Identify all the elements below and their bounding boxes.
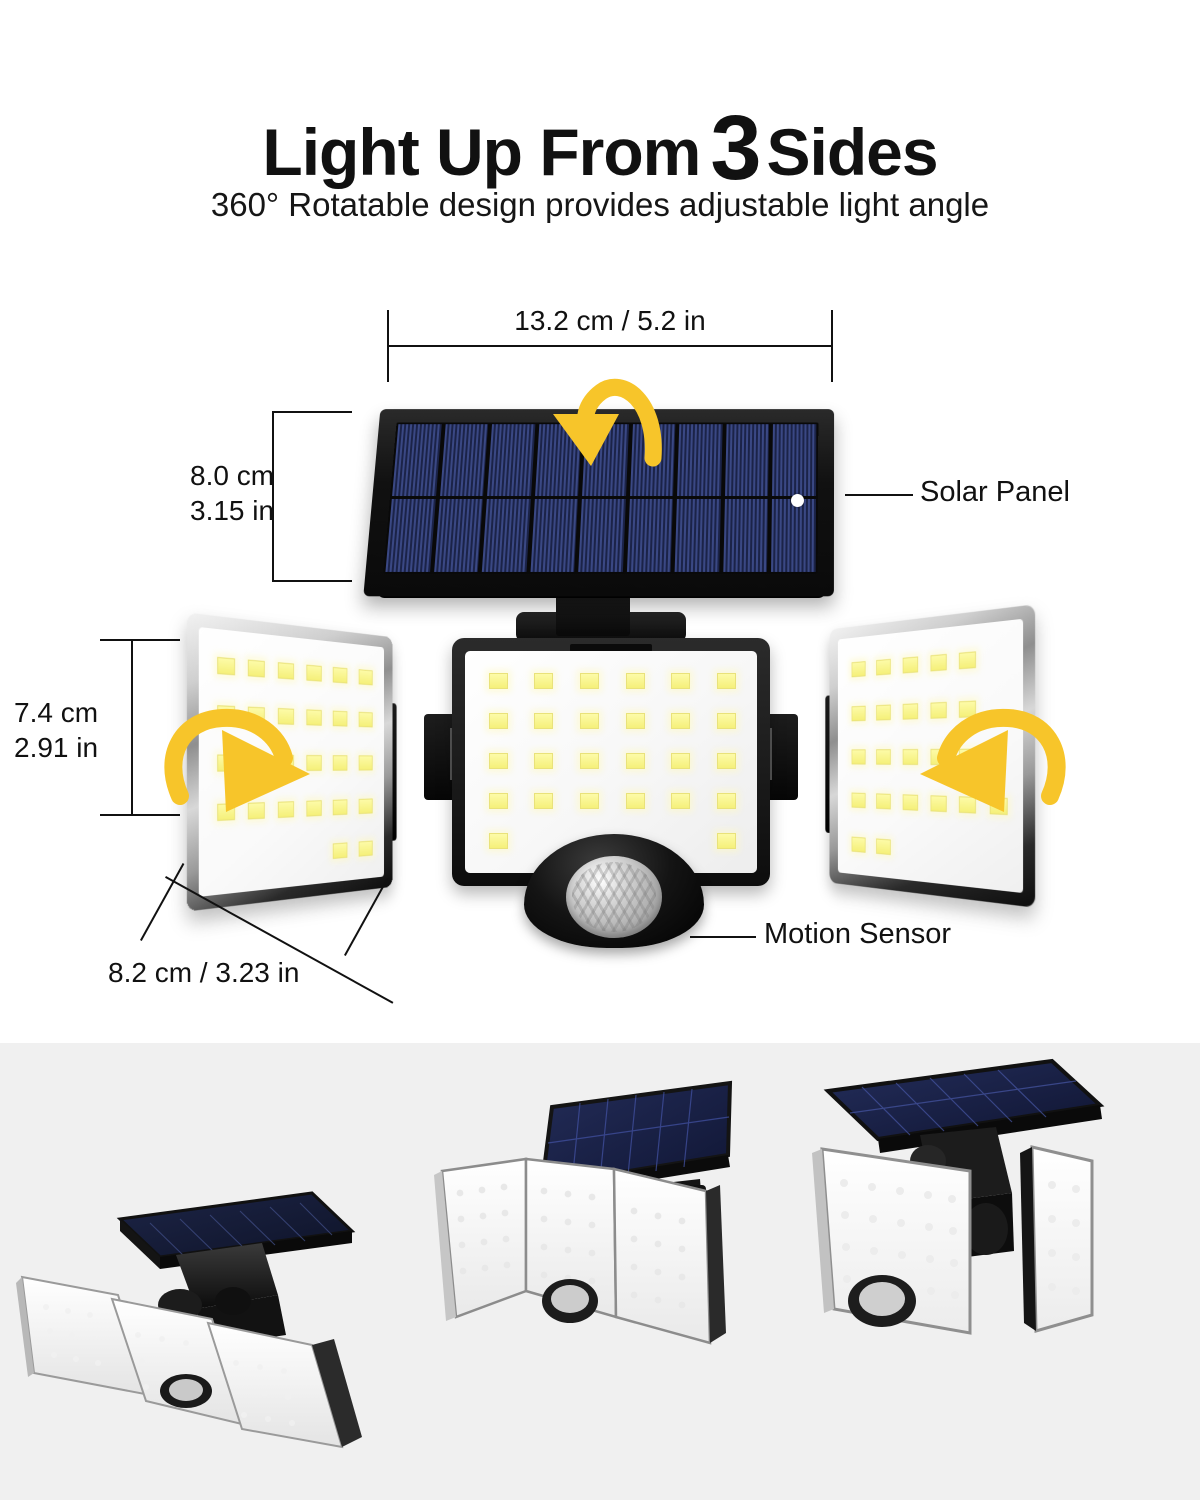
led xyxy=(474,820,520,860)
led xyxy=(923,826,952,875)
led xyxy=(520,700,566,740)
led xyxy=(845,645,870,691)
led xyxy=(299,648,326,695)
folded-flat-view xyxy=(0,1043,400,1500)
solar-width-tick-left xyxy=(387,310,389,382)
led xyxy=(565,740,611,780)
led xyxy=(845,734,870,778)
solar-cell xyxy=(772,424,816,495)
solar-panel-indicator-light xyxy=(791,494,804,507)
led xyxy=(520,780,566,820)
led xyxy=(474,700,520,740)
solar-cell xyxy=(723,498,768,571)
motion-sensor-leader-line xyxy=(690,936,756,938)
solar-height-in: 3.15 in xyxy=(190,493,274,528)
infographic-top-section: Light Up From3Sides 360° Rotatable desig… xyxy=(0,0,1200,1043)
lamp-height-cap-bottom xyxy=(100,814,180,816)
right-head-rotate-arrow xyxy=(900,700,1070,830)
led xyxy=(520,660,566,700)
led xyxy=(870,643,896,690)
led xyxy=(270,830,299,878)
led xyxy=(952,827,982,878)
led xyxy=(565,660,611,700)
lamp-width-dimension-label: 8.2 cm / 3.23 in xyxy=(108,955,299,990)
led xyxy=(896,824,923,872)
led xyxy=(326,784,352,829)
led xyxy=(611,660,657,700)
solar-height-dimension-label: 8.0 cm 3.15 in xyxy=(190,458,274,528)
led xyxy=(565,700,611,740)
led xyxy=(702,780,748,820)
led xyxy=(611,700,657,740)
led xyxy=(352,653,377,698)
solar-cell xyxy=(392,424,441,495)
led xyxy=(982,631,1014,683)
led xyxy=(209,639,241,690)
led xyxy=(702,700,748,740)
motion-sensor xyxy=(524,834,704,948)
solar-cell xyxy=(627,498,674,571)
led xyxy=(896,640,923,688)
solar-cell xyxy=(725,424,770,495)
left-head-rotate-arrow xyxy=(160,700,330,830)
led xyxy=(209,834,241,885)
led xyxy=(845,778,870,823)
solar-tilt-rotate-arrow xyxy=(545,362,685,472)
led xyxy=(474,740,520,780)
solar-cell xyxy=(440,424,489,495)
solar-cell xyxy=(487,424,535,495)
solar-width-dimension-line xyxy=(387,345,833,347)
led xyxy=(702,660,748,700)
led xyxy=(299,829,326,876)
solar-cell xyxy=(434,498,483,571)
led xyxy=(845,821,870,867)
led xyxy=(845,690,870,735)
led xyxy=(702,740,748,780)
led xyxy=(326,695,352,740)
solar-cell xyxy=(578,498,625,571)
solar-cell xyxy=(771,498,816,571)
solar-height-dimension-line xyxy=(272,412,274,582)
led xyxy=(923,637,952,686)
led xyxy=(657,660,703,700)
lamp-height-dimension-line xyxy=(131,640,133,816)
led xyxy=(870,733,896,778)
solar-panel-leader-line xyxy=(845,494,913,496)
solar-height-cap-bottom xyxy=(272,580,352,582)
motion-sensor-lens xyxy=(566,856,662,938)
led xyxy=(352,740,377,783)
product-views-strip xyxy=(0,1043,1200,1500)
led xyxy=(352,697,377,741)
led xyxy=(657,780,703,820)
solar-height-cm: 8.0 cm xyxy=(190,458,274,493)
led xyxy=(326,651,352,697)
led xyxy=(657,740,703,780)
solar-cell xyxy=(530,498,578,571)
led xyxy=(952,634,982,685)
led xyxy=(270,645,299,693)
led xyxy=(352,783,377,827)
folded-inward-view xyxy=(800,1043,1200,1500)
led xyxy=(870,822,896,869)
led xyxy=(326,827,352,873)
solar-panel-neck xyxy=(556,592,630,636)
spread-wide-view xyxy=(400,1043,800,1500)
led xyxy=(326,740,352,785)
solar-cell xyxy=(385,498,435,571)
led xyxy=(611,740,657,780)
motion-sensor-callout-label: Motion Sensor xyxy=(764,918,951,951)
center-head-led-grid xyxy=(474,660,748,860)
led xyxy=(520,740,566,780)
lamp-height-cm: 7.4 cm xyxy=(14,695,98,730)
solar-height-cap-top xyxy=(272,411,352,413)
led xyxy=(702,820,748,860)
led xyxy=(870,688,896,734)
led xyxy=(474,780,520,820)
solar-width-dimension-label: 13.2 cm / 5.2 in xyxy=(0,303,1200,338)
solar-panel-callout-label: Solar Panel xyxy=(920,476,1070,509)
led xyxy=(352,826,377,871)
solar-width-tick-right xyxy=(831,310,833,382)
lamp-height-dimension-label: 7.4 cm 2.91 in xyxy=(14,695,98,765)
lamp-height-in: 2.91 in xyxy=(14,730,98,765)
led xyxy=(565,780,611,820)
lamp-height-cap-top xyxy=(100,639,180,641)
solar-cell xyxy=(482,498,531,571)
led xyxy=(474,660,520,700)
led xyxy=(611,780,657,820)
led xyxy=(870,778,896,824)
led xyxy=(657,700,703,740)
led xyxy=(982,829,1014,881)
solar-cell xyxy=(675,498,721,571)
